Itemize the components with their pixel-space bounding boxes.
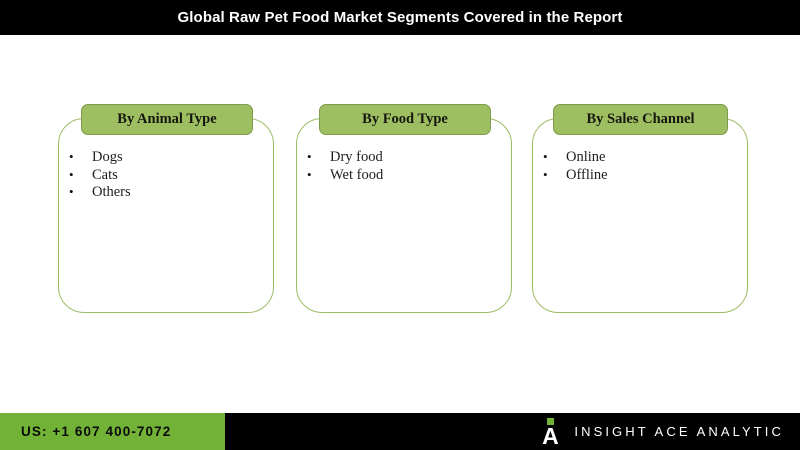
page-title: Global Raw Pet Food Market Segments Cove… — [178, 9, 623, 26]
bullet-icon: • — [307, 150, 330, 163]
bullet-icon: • — [543, 168, 566, 181]
segments-container: By Animal Type • Dogs • Cats • Others — [0, 35, 800, 413]
brand-logo: A INSIGHT ACE ANALYTIC — [539, 413, 784, 450]
title-bar: Global Raw Pet Food Market Segments Cove… — [0, 0, 800, 35]
list-item-label: Dogs — [92, 149, 123, 166]
segment-item-list: • Dry food • Wet food — [307, 149, 383, 184]
bullet-icon: • — [69, 168, 92, 181]
segment-card-title: By Sales Channel — [587, 111, 695, 128]
list-item-label: Wet food — [330, 167, 383, 184]
segment-item-list: • Dogs • Cats • Others — [69, 149, 131, 202]
bullet-icon: • — [543, 150, 566, 163]
segment-card-animal-type[interactable]: By Animal Type • Dogs • Cats • Others — [58, 118, 274, 313]
brand-letter-a-icon: A — [539, 425, 561, 447]
list-item: • Wet food — [307, 167, 383, 185]
list-item: • Online — [543, 149, 608, 167]
segment-card-sales-channel[interactable]: By Sales Channel • Online • Offline — [532, 118, 748, 313]
bullet-icon: • — [69, 150, 92, 163]
bullet-icon: • — [307, 168, 330, 181]
footer-phone-block[interactable]: US: +1 607 400-7072 — [0, 413, 225, 450]
segment-card-food-type[interactable]: By Food Type • Dry food • Wet food — [296, 118, 512, 313]
list-item: • Dry food — [307, 149, 383, 167]
footer-bar: US: +1 607 400-7072 A INSIGHT ACE ANALYT… — [0, 413, 800, 450]
bullet-icon: • — [69, 185, 92, 198]
list-item-label: Offline — [566, 167, 608, 184]
segment-card-title: By Animal Type — [117, 111, 216, 128]
segment-card-title: By Food Type — [362, 111, 448, 128]
list-item-label: Dry food — [330, 149, 383, 166]
list-item: • Dogs — [69, 149, 131, 167]
segment-item-list: • Online • Offline — [543, 149, 608, 184]
brand-mark-icon: A — [539, 417, 561, 447]
list-item-label: Cats — [92, 167, 118, 184]
slide-root: Global Raw Pet Food Market Segments Cove… — [0, 0, 800, 450]
segment-card-header: By Food Type — [319, 104, 491, 135]
list-item: • Offline — [543, 167, 608, 185]
segment-card-header: By Sales Channel — [553, 104, 728, 135]
brand-name: INSIGHT ACE ANALYTIC — [574, 424, 784, 439]
list-item: • Cats — [69, 167, 131, 185]
segment-card-header: By Animal Type — [81, 104, 253, 135]
list-item: • Others — [69, 184, 131, 202]
list-item-label: Others — [92, 184, 131, 201]
footer-phone-number: US: +1 607 400-7072 — [21, 424, 171, 439]
list-item-label: Online — [566, 149, 605, 166]
